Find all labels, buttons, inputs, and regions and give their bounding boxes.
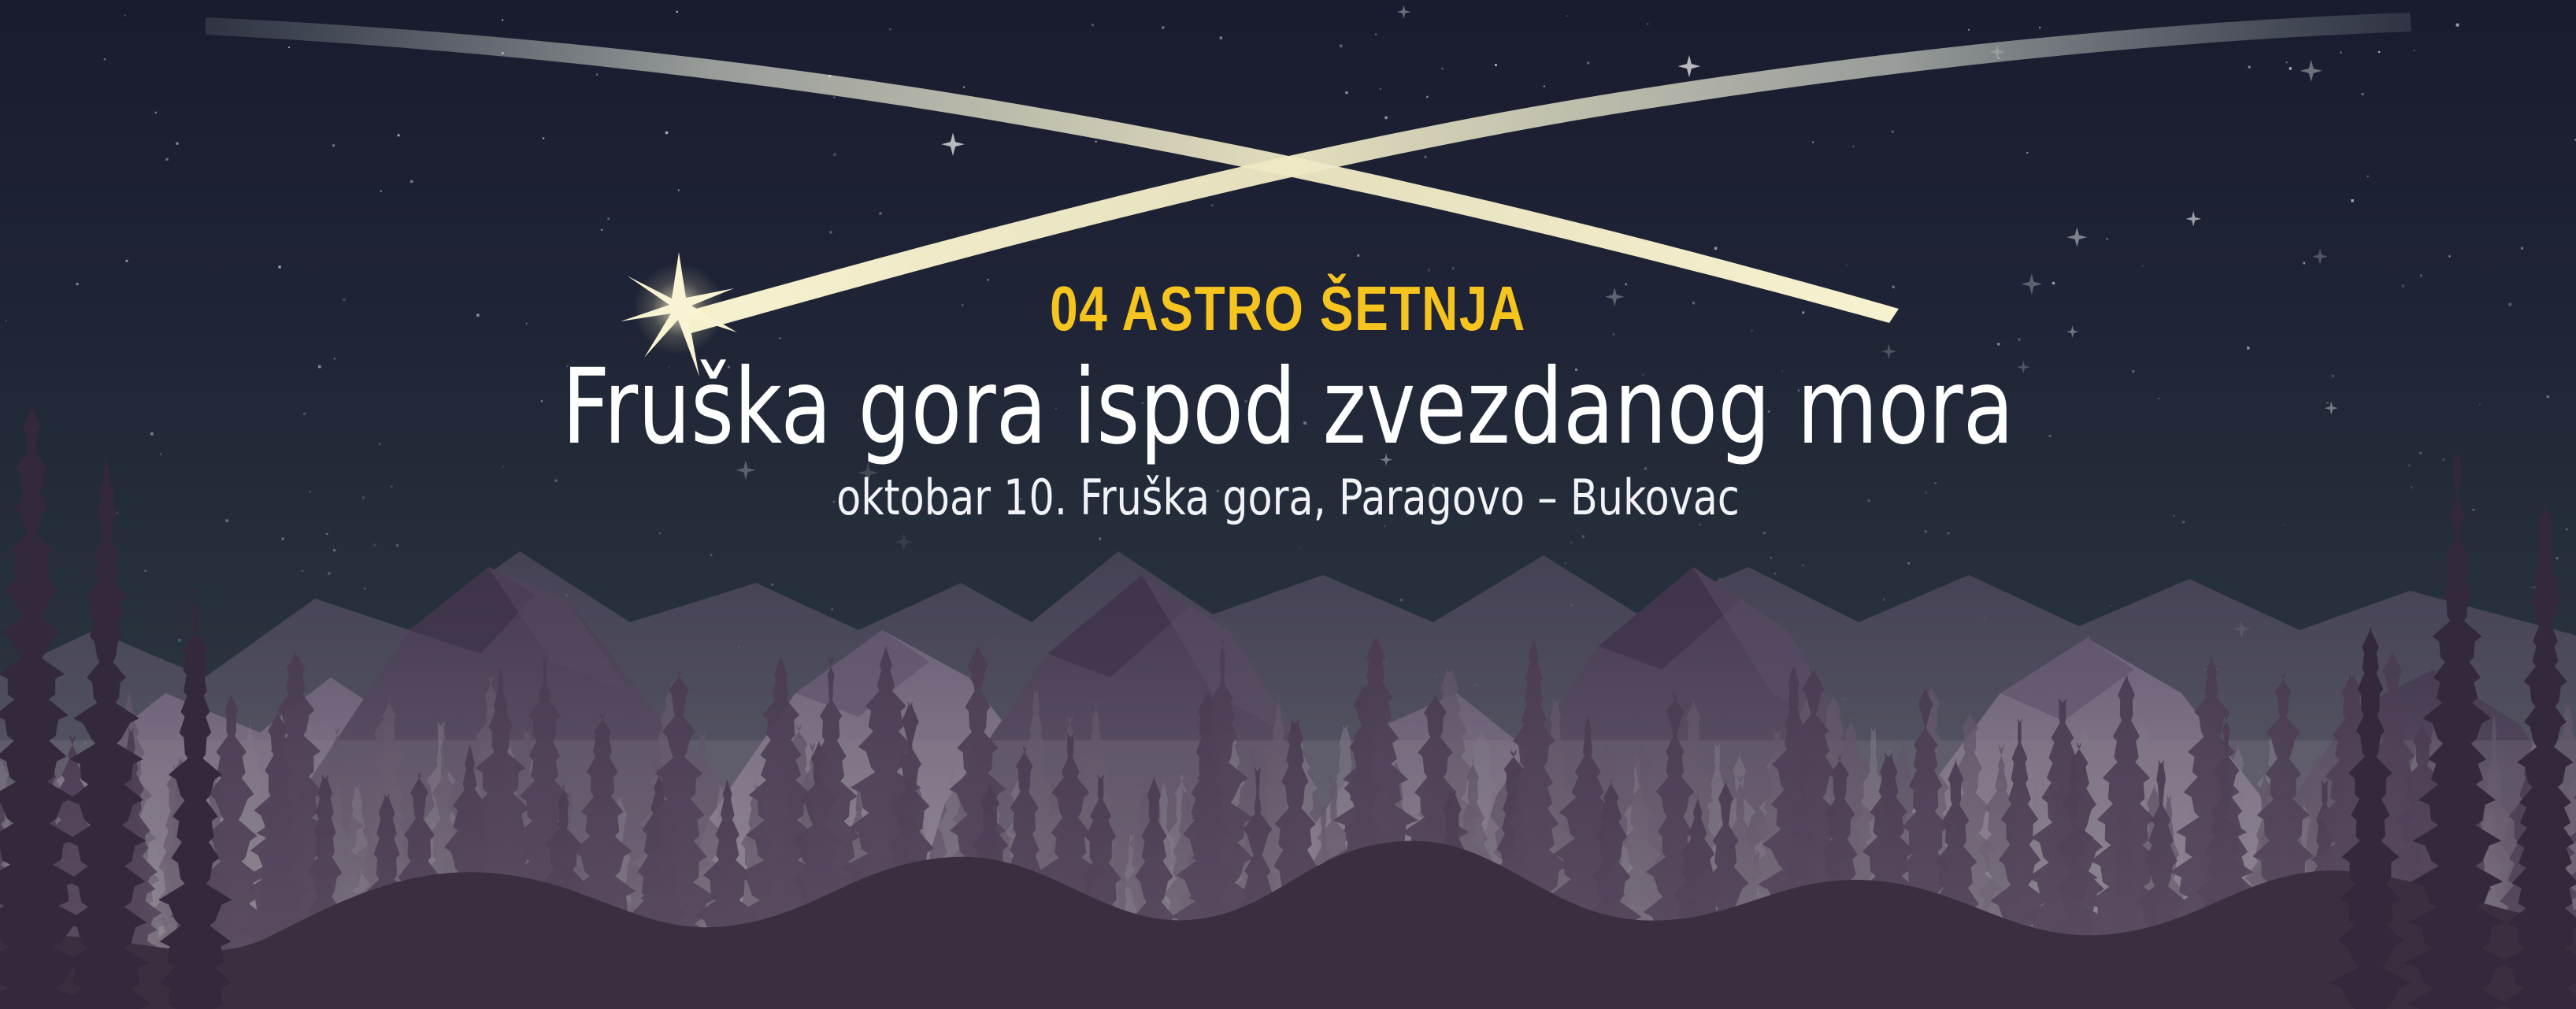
astro-event-banner: 04 ASTRO ŠETNJA Fruška gora ispod zvezda…: [0, 0, 2576, 1009]
night-landscape-illustration: [0, 0, 2576, 1009]
